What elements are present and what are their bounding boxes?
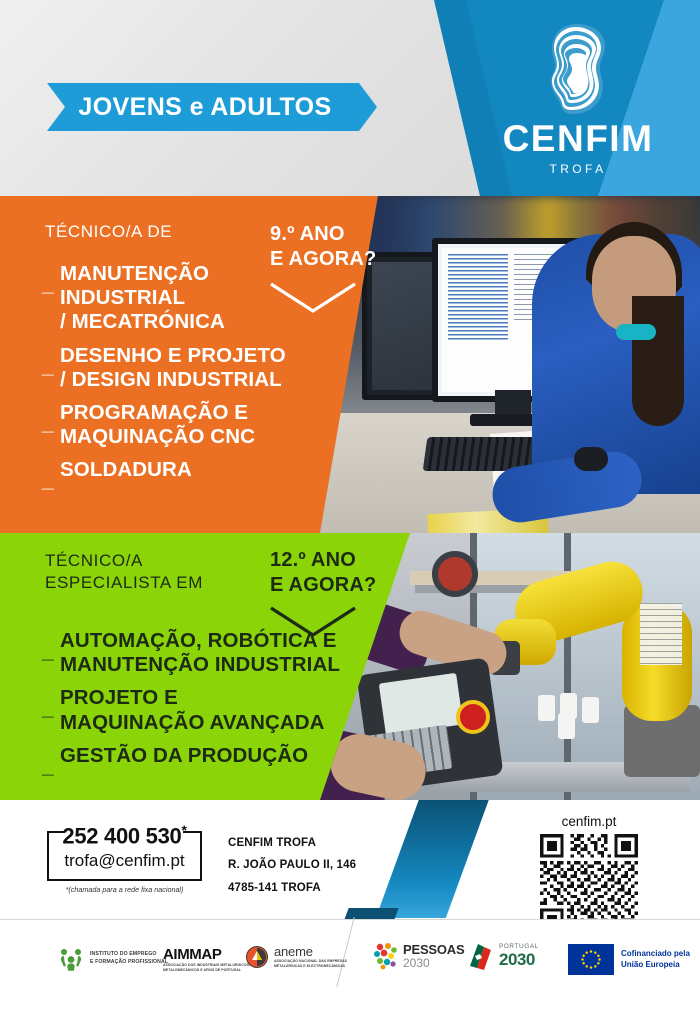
orange-course-list: _ MANUTENÇÃO INDUSTRIAL / MECATRÓNICA _ … xyxy=(42,262,362,492)
green-ano-line1: 12.º ANO xyxy=(270,548,376,573)
course-item: _ SOLDADURA xyxy=(42,458,362,483)
iefp-subtitle: E FORMAÇÃO PROFISSIONAL xyxy=(90,959,168,967)
pessoas-2030-icon xyxy=(373,942,399,970)
course-item: _ MANUTENÇÃO INDUSTRIAL / MECATRÓNICA xyxy=(42,262,362,335)
photo-industrial-robot-arm-automation-cell xyxy=(320,533,700,800)
logo-bar: INSTITUTO DO EMPREGO E FORMAÇÃO PROFISSI… xyxy=(0,919,700,1009)
phone-number-value: 252 400 530 xyxy=(62,823,181,848)
website-url[interactable]: cenfim.pt xyxy=(534,814,644,829)
iefp-title: INSTITUTO DO EMPREGO xyxy=(90,951,168,959)
green-section-heading: TÉCNICO/A ESPECIALISTA EM xyxy=(45,550,203,595)
funding-logo-pessoas-2030: PESSOAS 2030 xyxy=(373,942,464,970)
course-dash: _ xyxy=(42,755,56,780)
portugal-year: 2030 xyxy=(499,951,539,968)
eu-line-2: União Europeia xyxy=(621,960,690,971)
aneme-subtitle: ASSOCIAÇÃO NACIONAL DAS EMPRESAS METALÚR… xyxy=(274,959,347,970)
audience-ribbon-label: JOVENS e ADULTOS xyxy=(47,83,363,131)
partner-logo-iefp: INSTITUTO DO EMPREGO E FORMAÇÃO PROFISSI… xyxy=(58,946,168,972)
course-item: _ PROJETO E MAQUINAÇÃO AVANÇADA xyxy=(42,686,372,734)
course-item: _ AUTOMAÇÃO, ROBÓTICA E MANUTENÇÃO INDUS… xyxy=(42,629,372,677)
funding-logo-portugal-2030: PORTUGAL 2030 xyxy=(466,942,539,970)
aimmap-subtitle: ASSOCIAÇÃO DOS INDUSTRIAIS METALÚRGICOS,… xyxy=(163,963,250,974)
address-line-3: 4785-141 TROFA xyxy=(228,877,356,899)
course-item: _ DESENHO E PROJETO / DESIGN INDUSTRIAL xyxy=(42,344,362,392)
course-label: MANUTENÇÃO INDUSTRIAL / MECATRÓNICA xyxy=(60,262,225,335)
qr-code-icon[interactable] xyxy=(540,834,638,932)
course-dash: _ xyxy=(42,469,56,494)
course-label: GESTÃO DA PRODUÇÃO xyxy=(60,744,308,768)
course-dash: _ xyxy=(42,355,56,380)
phone-number[interactable]: 252 400 530* xyxy=(47,822,202,849)
course-label: PROGRAMAÇÃO E MAQUINAÇÃO CNC xyxy=(60,401,255,449)
address-line-1: CENFIM TROFA xyxy=(228,832,356,854)
contact-box: 252 400 530* trofa@cenfim.pt *(chamada p… xyxy=(47,831,202,881)
eu-line-1: Cofinanciado pela xyxy=(621,949,690,960)
aimmap-title: AIMMAP xyxy=(163,946,250,963)
partner-logo-aimmap: AIMMAP ASSOCIAÇÃO DOS INDUSTRIAIS METALÚ… xyxy=(163,946,250,974)
pessoas-year: 2030 xyxy=(403,957,464,970)
iefp-people-icon xyxy=(58,946,84,972)
section-orange: TÉCNICO/A DE 9.º ANO E AGORA? _ MANUTENÇ… xyxy=(0,196,700,533)
poster-footer: 252 400 530* trofa@cenfim.pt *(chamada p… xyxy=(0,800,700,1009)
course-dash: _ xyxy=(42,412,56,437)
cenfim-logo: CENFIM TROFA xyxy=(498,22,658,176)
section-green: TÉCNICO/A ESPECIALISTA EM 12.º ANO E AGO… xyxy=(0,533,700,800)
course-label: AUTOMAÇÃO, ROBÓTICA E MANUTENÇÃO INDUSTR… xyxy=(60,629,340,677)
green-ano-question: 12.º ANO E AGORA? xyxy=(270,548,376,598)
aneme-circle-icon xyxy=(245,945,269,969)
course-label: DESENHO E PROJETO / DESIGN INDUSTRIAL xyxy=(60,344,286,392)
course-item: _ PROGRAMAÇÃO E MAQUINAÇÃO CNC xyxy=(42,401,362,449)
address-line-2: R. JOÃO PAULO II, 146 xyxy=(228,854,356,876)
cenfim-center-name: TROFA xyxy=(498,162,658,176)
orange-ano-line1: 9.º ANO xyxy=(270,222,376,247)
cenfim-wordmark: CENFIM xyxy=(498,120,658,157)
course-label: SOLDADURA xyxy=(60,458,192,482)
cenfim-fingerprint-icon xyxy=(543,22,613,114)
email-address[interactable]: trofa@cenfim.pt xyxy=(47,851,202,871)
orange-section-heading: TÉCNICO/A DE xyxy=(45,221,172,243)
phone-tariff-note: *(chamada para a rede fixa nacional) xyxy=(47,885,202,894)
aneme-title: aneme xyxy=(274,945,347,958)
postal-address: CENFIM TROFA R. JOÃO PAULO II, 146 4785-… xyxy=(228,832,356,899)
course-dash: _ xyxy=(42,273,56,298)
eu-flag-icon xyxy=(568,944,614,975)
partner-logo-aneme: aneme ASSOCIAÇÃO NACIONAL DAS EMPRESAS M… xyxy=(245,945,347,970)
course-dash: _ xyxy=(42,640,56,665)
funding-logo-eu-cofinanced: Cofinanciado pela União Europeia xyxy=(568,944,690,975)
footer-blue-stripe xyxy=(376,800,490,918)
green-ano-line2: E AGORA? xyxy=(270,573,376,598)
audience-ribbon: JOVENS e ADULTOS xyxy=(47,83,377,131)
portugal-flag-icon xyxy=(466,942,496,970)
photo-student-at-computer-workstation xyxy=(320,196,700,533)
pessoas-title: PESSOAS xyxy=(403,943,464,957)
green-course-list: _ AUTOMAÇÃO, ROBÓTICA E MANUTENÇÃO INDUS… xyxy=(42,629,372,778)
phone-asterisk: * xyxy=(181,822,186,838)
poster: CENFIM TROFA JOVENS e ADULTOS xyxy=(0,0,700,1009)
course-item: _ GESTÃO DA PRODUÇÃO xyxy=(42,744,372,769)
course-label: PROJETO E MAQUINAÇÃO AVANÇADA xyxy=(60,686,325,734)
course-dash: _ xyxy=(42,697,56,722)
poster-header: CENFIM TROFA JOVENS e ADULTOS xyxy=(0,0,700,196)
